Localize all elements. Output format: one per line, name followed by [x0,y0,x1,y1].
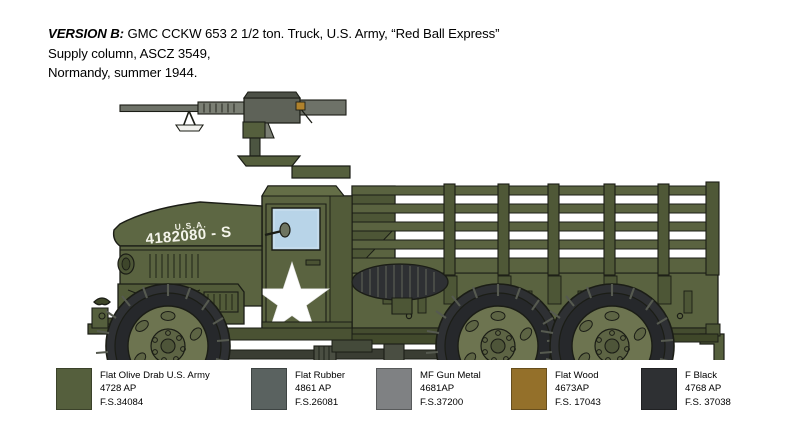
caption-block: VERSION B: GMC CCKW 653 2 1/2 ton. Truck… [48,24,768,83]
truck-illustration: U.S.A. 4182080 - S [0,78,800,363]
legend-swatch-3: Flat Wood 4673AP F.S. 17043 [511,368,601,410]
ring-mount-arm [292,166,350,178]
swatch-code-0: 4728 AP [100,382,210,395]
swatch-fs-3: F.S. 17043 [555,396,601,409]
swatch-chip-gun-metal [376,368,412,410]
truck-svg: U.S.A. 4182080 - S [0,78,800,363]
swatch-text-0: Flat Olive Drab U.S. Army 4728 AP F.S.34… [100,368,210,409]
legend-swatch-2: MF Gun Metal 4681AP F.S.37200 [376,368,481,410]
legend-swatch-1: Flat Rubber 4861 AP F.S.26081 [251,368,345,410]
version-label: VERSION B: [48,26,124,41]
swatch-chip-olive-drab [56,368,92,410]
swatch-fs-4: F.S. 37038 [685,396,731,409]
swatch-code-2: 4681AP [420,382,481,395]
cab [255,186,352,334]
legend-swatch-0: Flat Olive Drab U.S. Army 4728 AP F.S.34… [56,368,210,410]
swatch-fs-1: F.S.26081 [295,396,345,409]
machine-gun-icon [120,92,346,166]
swatch-code-4: 4768 AP [685,382,731,395]
swatch-chip-flat-rubber [251,368,287,410]
swatch-name-3: Flat Wood [555,369,601,382]
swatch-chip-black [641,368,677,410]
caption-line-1: VERSION B: GMC CCKW 653 2 1/2 ton. Truck… [48,24,768,44]
headlight-icon [118,254,134,274]
swatch-fs-2: F.S.37200 [420,396,481,409]
swatch-code-1: 4861 AP [295,382,345,395]
swatch-fs-0: F.S.34084 [100,396,210,409]
swatch-name-0: Flat Olive Drab U.S. Army [100,369,210,382]
swatch-text-1: Flat Rubber 4861 AP F.S.26081 [295,368,345,409]
swatch-name-1: Flat Rubber [295,369,345,382]
swatch-name-4: F Black [685,369,731,382]
caption-line-1-rest: GMC CCKW 653 2 1/2 ton. Truck, U.S. Army… [124,26,499,41]
swatch-text-2: MF Gun Metal 4681AP F.S.37200 [420,368,481,409]
caption-line-2: Supply column, ASCZ 3549, [48,44,768,64]
swatch-text-3: Flat Wood 4673AP F.S. 17043 [555,368,601,409]
door-handle [306,260,320,265]
swatch-code-3: 4673AP [555,382,601,395]
tow-hook-icon [94,298,110,305]
swatch-chip-flat-wood [511,368,547,410]
color-legend: Flat Olive Drab U.S. Army 4728 AP F.S.34… [0,368,800,428]
swatch-text-4: F Black 4768 AP F.S. 37038 [685,368,731,409]
cab-window-glass [272,208,320,250]
legend-swatch-4: F Black 4768 AP F.S. 37038 [641,368,731,410]
swatch-name-2: MF Gun Metal [420,369,481,382]
